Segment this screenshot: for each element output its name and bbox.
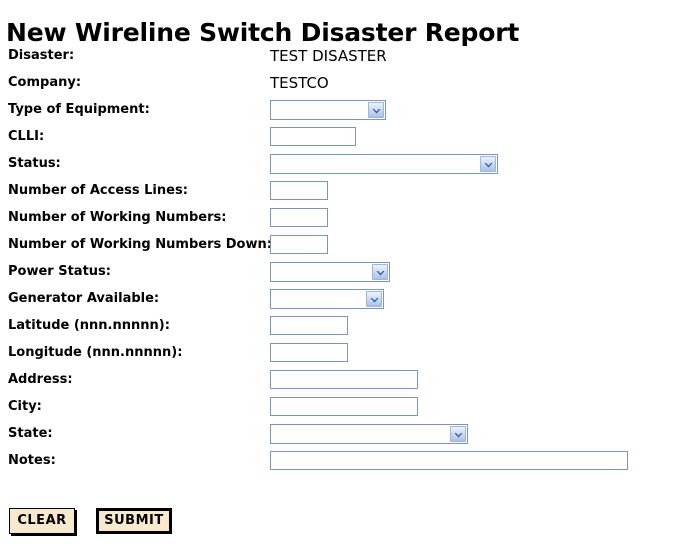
form-row-notes: Notes: [0,451,677,478]
form-row-company: Company: TESTCO [0,73,677,100]
chevron-down-icon[interactable] [368,102,384,118]
label-latitude: Latitude (nnn.nnnnn): [8,316,170,336]
form-row-disaster: Disaster: TEST DISASTER [0,46,677,73]
select-power-status[interactable] [270,262,390,282]
form-row-power-status: Power Status: [0,262,677,289]
form-row-number-of-working-numbers-down: Number of Working Numbers Down: [0,235,677,262]
label-number-of-working-numbers: Number of Working Numbers: [8,208,226,228]
input-city[interactable] [270,397,418,416]
label-clli: CLLI: [8,127,44,147]
label-number-of-working-numbers-down: Number of Working Numbers Down: [8,235,272,255]
select-type-of-equipment[interactable] [270,100,386,120]
label-disaster: Disaster: [8,46,74,66]
disaster-report-form: Disaster: TEST DISASTER Company: TESTCO … [0,46,677,478]
form-row-status: Status: [0,154,677,181]
chevron-down-icon[interactable] [450,426,466,442]
input-number-of-working-numbers-down[interactable] [270,235,328,254]
form-row-address: Address: [0,370,677,397]
chevron-down-icon[interactable] [372,264,388,280]
label-city: City: [8,397,42,417]
label-generator-available: Generator Available: [8,289,159,309]
select-generator-available[interactable] [270,289,384,309]
label-state: State: [8,424,53,444]
chevron-down-icon[interactable] [366,291,382,307]
input-clli[interactable] [270,127,356,146]
label-status: Status: [8,154,61,174]
form-row-generator-available: Generator Available: [0,289,677,316]
input-address[interactable] [270,370,418,389]
form-row-state: State: [0,424,677,451]
chevron-down-icon[interactable] [480,156,496,172]
submit-button[interactable]: SUBMIT [96,508,172,534]
select-status[interactable] [270,154,498,174]
select-state[interactable] [270,424,468,444]
disaster-report-page: New Wireline Switch Disaster Report Disa… [0,0,677,556]
form-row-type-of-equipment: Type of Equipment: [0,100,677,127]
label-longitude: Longitude (nnn.nnnnn): [8,343,182,363]
label-company: Company: [8,73,81,93]
value-company: TESTCO [270,73,329,93]
input-number-of-working-numbers[interactable] [270,208,328,227]
form-row-number-of-access-lines: Number of Access Lines: [0,181,677,208]
label-power-status: Power Status: [8,262,111,282]
label-number-of-access-lines: Number of Access Lines: [8,181,188,201]
page-title: New Wireline Switch Disaster Report [6,18,519,48]
form-row-city: City: [0,397,677,424]
input-number-of-access-lines[interactable] [270,181,328,200]
form-row-latitude: Latitude (nnn.nnnnn): [0,316,677,343]
form-button-bar: CLEAR SUBMIT [0,508,677,548]
label-type-of-equipment: Type of Equipment: [8,100,150,120]
label-address: Address: [8,370,73,390]
label-notes: Notes: [8,451,56,471]
form-row-number-of-working-numbers: Number of Working Numbers: [0,208,677,235]
clear-button[interactable]: CLEAR [9,508,75,534]
value-disaster: TEST DISASTER [270,46,387,66]
form-row-longitude: Longitude (nnn.nnnnn): [0,343,677,370]
input-latitude[interactable] [270,316,348,335]
input-longitude[interactable] [270,343,348,362]
form-row-clli: CLLI: [0,127,677,154]
input-notes[interactable] [270,451,628,470]
